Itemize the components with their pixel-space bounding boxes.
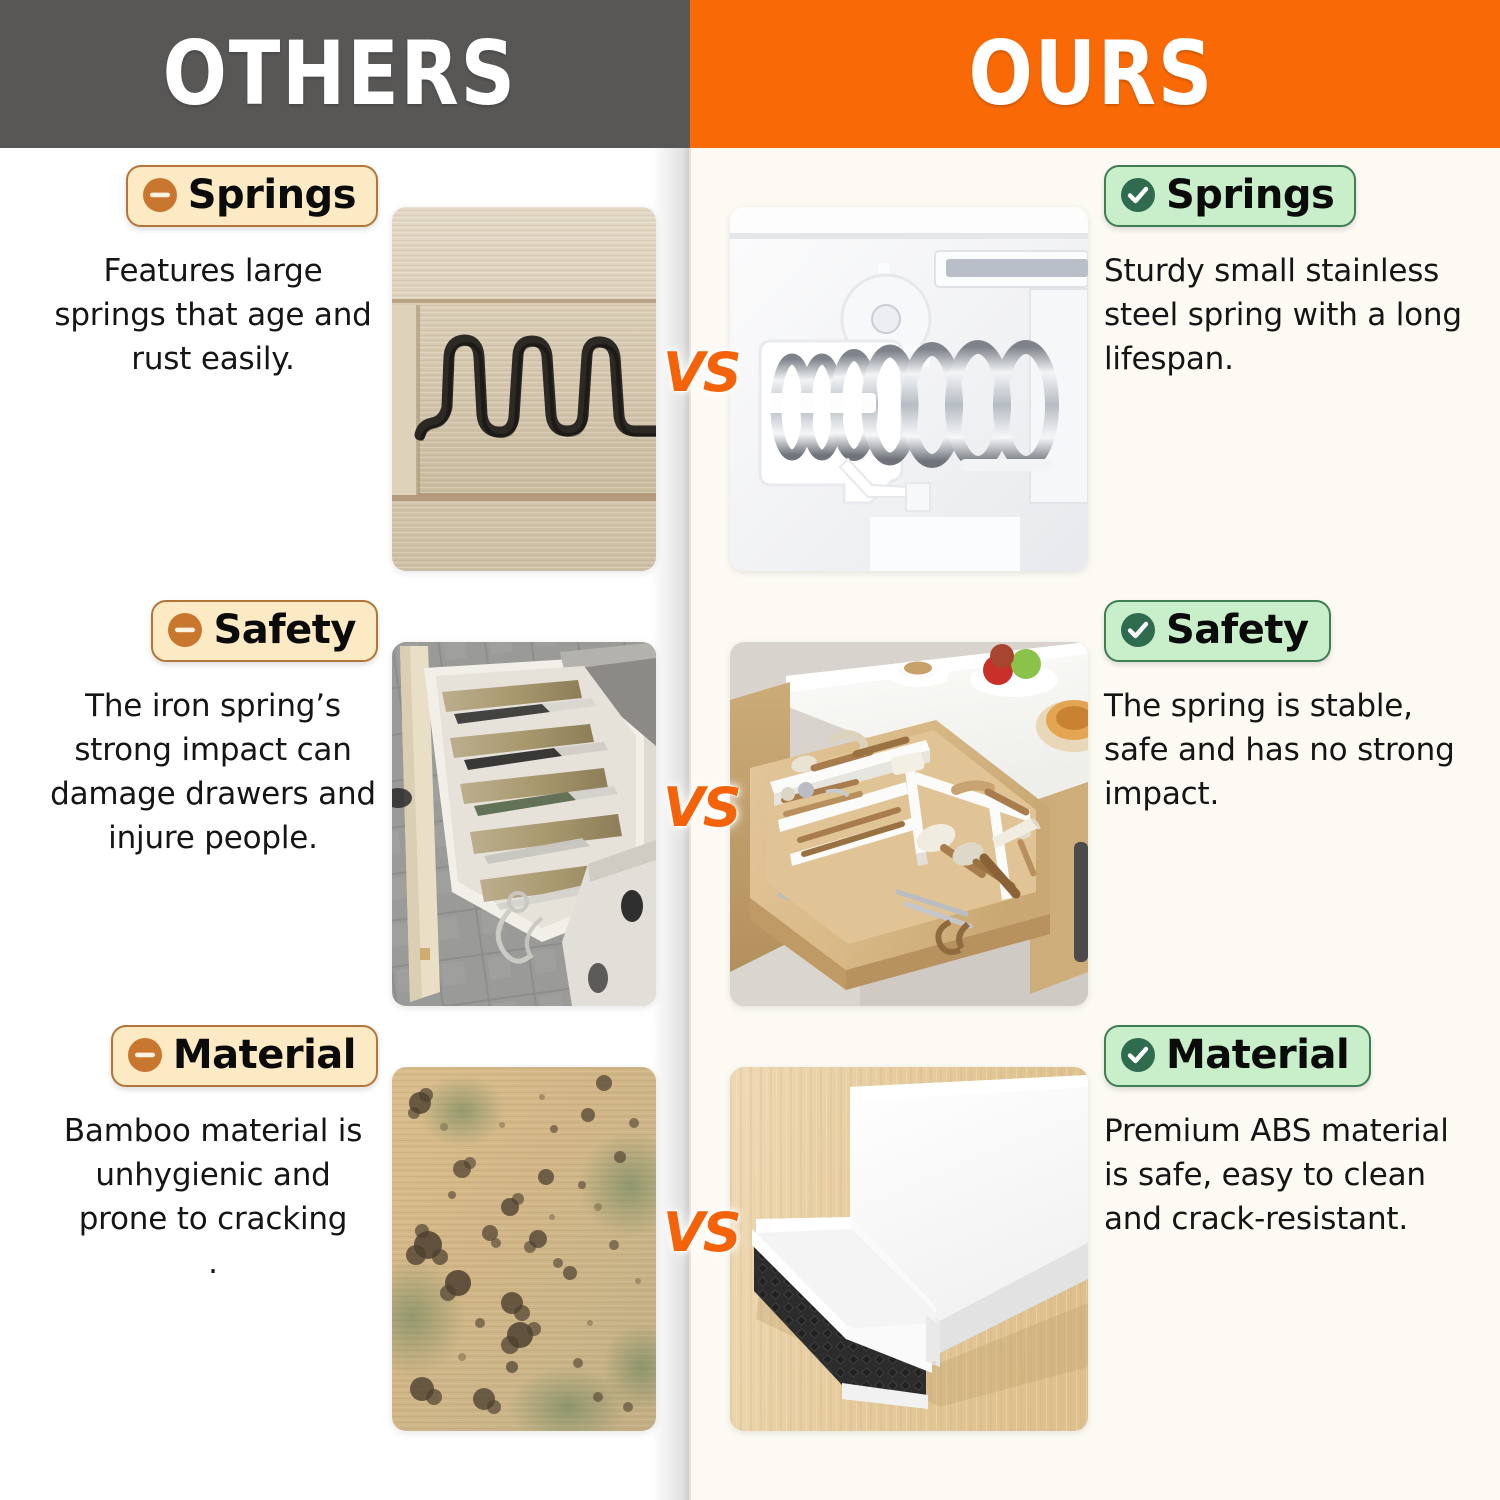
row1-left-photo [392,207,656,571]
moldy-bamboo-board-photo [392,1067,656,1431]
header-others-panel: OTHERS [0,0,690,148]
row3-right-text-block: Material Premium ABS material is safe, e… [1104,1025,1474,1241]
row3-right-photo [730,1067,1088,1431]
row1-right-badge-wrap: Springs [1104,165,1474,227]
header-ours-panel: OURS [690,0,1500,148]
check-circle-icon [1120,1037,1156,1073]
row1-right-text-block: Springs Sturdy small stainless steel spr… [1104,165,1474,381]
row2-left-badge-wrap: Safety [48,600,378,662]
row2-right-badge-wrap: Safety [1104,600,1474,662]
row3-right-badge-label: Material [1166,1035,1349,1075]
row1-right-badge-label: Springs [1166,175,1334,215]
check-circle-icon [1120,177,1156,213]
white-plastic-mechanism-with-steel-coil-spring-photo [730,207,1088,571]
row2-right-badge: Safety [1104,600,1331,662]
row2-right-photo [730,642,1088,1006]
header-bar: OTHERS OURS [0,0,1500,148]
header-ours-title: OURS [969,30,1221,118]
row3-left-description: Bamboo material is unhygienic and prone … [48,1109,378,1285]
row2-vs-label: VS [663,778,727,838]
comparison-infographic: OTHERS OURS Springs Features large sprin… [0,0,1500,1500]
comparison-row-springs: Springs Features large springs that age … [0,165,1500,595]
row2-right-badge-label: Safety [1166,610,1309,650]
bamboo-panel-with-black-wire-spring-photo [392,207,656,571]
row3-left-badge: Material [111,1025,378,1087]
row2-left-badge: Safety [151,600,378,662]
row3-left-text-block: Material Bamboo material is unhygienic a… [48,1025,378,1285]
row1-vs-label: VS [663,343,727,403]
row2-right-description: The spring is stable, safe and has no st… [1104,684,1474,816]
messy-knife-drawer-on-tile-floor-photo [392,642,656,1006]
row1-left-text-block: Springs Features large springs that age … [48,165,378,381]
row3-vs-label: VS [663,1203,727,1263]
header-others-title: OTHERS [163,30,527,118]
row3-right-badge-wrap: Material [1104,1025,1474,1087]
row1-left-description: Features large springs that age and rust… [48,249,378,381]
row2-left-photo [392,642,656,1006]
row3-right-description: Premium ABS material is safe, easy to cl… [1104,1109,1474,1241]
row1-left-badge-label: Springs [188,175,356,215]
organized-wooden-kitchen-drawer-with-dividers-photo [730,642,1088,1006]
minus-circle-icon [167,612,203,648]
white-abs-drawer-organizer-on-wood-photo [730,1067,1088,1431]
row1-left-badge-wrap: Springs [48,165,378,227]
row2-left-badge-label: Safety [213,610,356,650]
row1-right-description: Sturdy small stainless steel spring with… [1104,249,1474,381]
row1-right-badge: Springs [1104,165,1356,227]
comparison-row-safety: Safety The iron spring’s strong impact c… [0,600,1500,1030]
row3-left-photo [392,1067,656,1431]
row3-left-badge-label: Material [173,1035,356,1075]
row2-left-text-block: Safety The iron spring’s strong impact c… [48,600,378,860]
row3-left-badge-wrap: Material [48,1025,378,1087]
minus-circle-icon [127,1037,163,1073]
comparison-row-material: Material Bamboo material is unhygienic a… [0,1025,1500,1455]
row1-right-photo [730,207,1088,571]
minus-circle-icon [142,177,178,213]
row1-left-badge: Springs [126,165,378,227]
row3-right-badge: Material [1104,1025,1371,1087]
row2-right-text-block: Safety The spring is stable, safe and ha… [1104,600,1474,816]
row2-left-description: The iron spring’s strong impact can dama… [48,684,378,860]
check-circle-icon [1120,612,1156,648]
